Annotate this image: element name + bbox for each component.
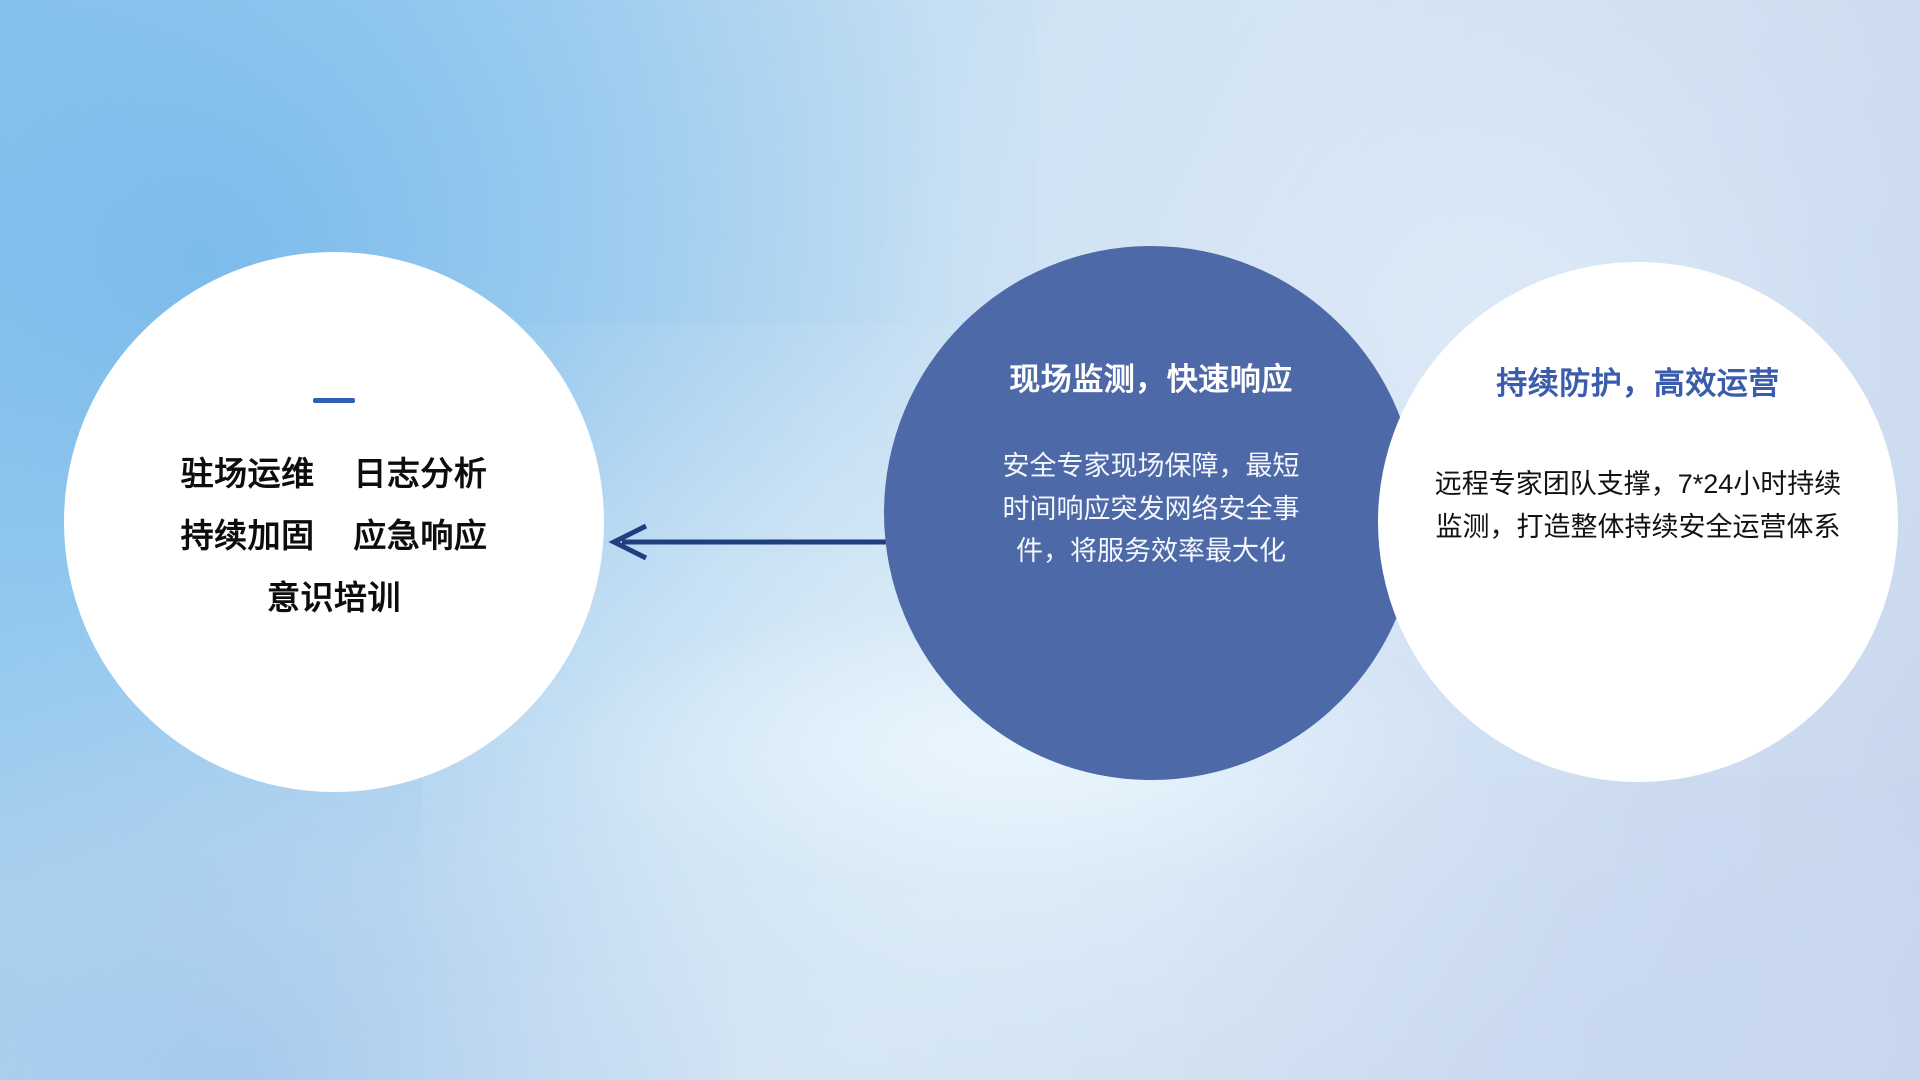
capability-row: 意识培训 — [181, 567, 488, 629]
onsite-monitoring-circle[interactable]: 现场监测，快速响应 安全专家现场保障，最短时间响应突发网络安全事件，将服务效率最… — [884, 246, 1418, 780]
flow-arrow-left-icon — [600, 512, 900, 572]
continuous-protection-body: 远程专家团队支撑，7*24小时持续监测，打造整体持续安全运营体系 — [1432, 463, 1844, 549]
onsite-monitoring-title: 现场监测，快速响应 — [1009, 354, 1293, 399]
capability-row: 驻场运维 日志分析 — [181, 443, 488, 505]
capabilities-circle[interactable]: 驻场运维 日志分析 持续加固 应急响应 意识培训 — [64, 252, 604, 792]
capability-row: 持续加固 应急响应 — [181, 505, 488, 567]
continuous-protection-circle[interactable]: 持续防护，高效运营 远程专家团队支撑，7*24小时持续监测，打造整体持续安全运营… — [1378, 262, 1898, 782]
capability-keyword-list: 驻场运维 日志分析 持续加固 应急响应 意识培训 — [181, 443, 488, 629]
slide-canvas: 驻场运维 日志分析 持续加固 应急响应 意识培训 现场监测，快速响应 安全专家现… — [0, 0, 1920, 1080]
divider-line — [313, 398, 355, 403]
continuous-protection-title: 持续防护，高效运营 — [1496, 358, 1780, 403]
onsite-monitoring-body: 安全专家现场保障，最短时间响应突发网络安全事件，将服务效率最大化 — [1001, 445, 1301, 573]
